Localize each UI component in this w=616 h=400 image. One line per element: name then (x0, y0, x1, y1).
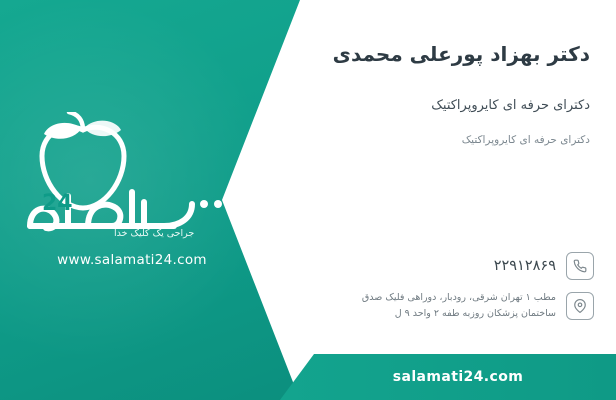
brand-logo: 24 جراحی یک کلیک خدا www.salamati24.com (14, 112, 244, 272)
phone-icon (566, 252, 594, 280)
footer-bar: salamati24.com (280, 354, 616, 400)
location-pin-icon (566, 292, 594, 320)
business-card: 24 جراحی یک کلیک خدا www.salamati24.com … (0, 0, 616, 400)
doctor-name: دکتر بهزاد پورعلی محمدی (333, 42, 590, 66)
address-text: مطب ۱ تهران شرقی، رودبار، دوراهی فلیک صد… (326, 290, 556, 322)
doctor-specialty-secondary: دکترای حرفه ای کایروپراکتیک (462, 134, 590, 146)
doctor-specialty: دکترای حرفه ای کایروپراکتیک (431, 98, 590, 113)
address-row: مطب ۱ تهران شرقی، رودبار، دوراهی فلیک صد… (326, 290, 594, 322)
phone-number: ۲۲۹۱۲۸۶۹ (494, 258, 556, 274)
phone-row: ۲۲۹۱۲۸۶۹ (494, 252, 594, 280)
brand-tagline: جراحی یک کلیک خدا (114, 228, 194, 239)
logo-number-24: 24 (42, 191, 73, 216)
brand-url: www.salamati24.com (32, 252, 232, 268)
footer-website: salamati24.com (393, 369, 523, 385)
